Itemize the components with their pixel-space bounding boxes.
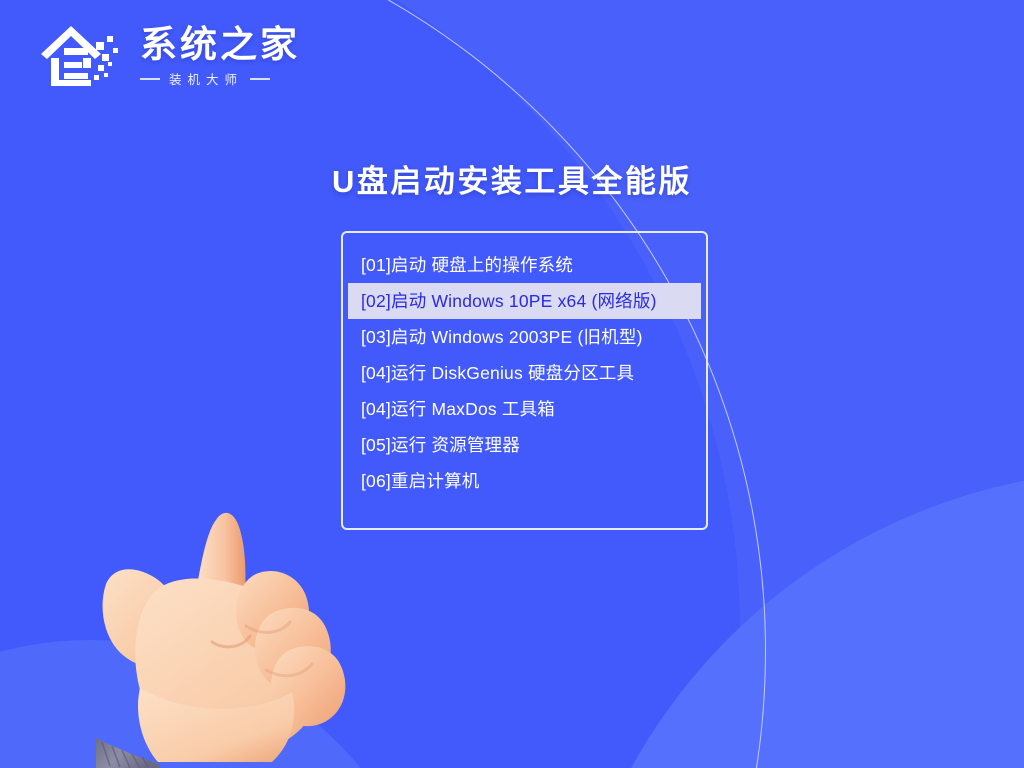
boot-menu-item[interactable]: [02]启动 Windows 10PE x64 (网络版) (348, 283, 701, 319)
boot-menu-item[interactable]: [06]重启计算机 (348, 463, 701, 499)
boot-menu-box: [01]启动 硬盘上的操作系统[02]启动 Windows 10PE x64 (… (341, 231, 708, 530)
brand-tagline-row: 装机大师 (140, 69, 300, 88)
boot-menu-item[interactable]: [05]运行 资源管理器 (348, 427, 701, 463)
boot-menu-item[interactable]: [04]运行 DiskGenius 硬盘分区工具 (348, 355, 701, 391)
tagline-dash-left-icon (140, 78, 160, 80)
boot-menu-item[interactable]: [03]启动 Windows 2003PE (旧机型) (348, 319, 701, 355)
house-pixel-logo-icon (38, 18, 130, 92)
boot-menu-list[interactable]: [01]启动 硬盘上的操作系统[02]启动 Windows 10PE x64 (… (343, 247, 706, 499)
brand-logo: 系统之家 装机大师 (38, 18, 300, 92)
pointing-hand-illustration (96, 500, 396, 768)
boot-menu-screen: 系统之家 装机大师 U盘启动安装工具全能版 [01]启动 硬盘上的操作系统[02… (0, 0, 1024, 768)
page-title: U盘启动安装工具全能版 (0, 156, 1024, 201)
brand-name: 系统之家 (140, 26, 300, 65)
background-arc-band-lower-left (0, 640, 440, 768)
boot-menu-item[interactable]: [04]运行 MaxDos 工具箱 (348, 391, 701, 427)
boot-menu-item[interactable]: [01]启动 硬盘上的操作系统 (348, 247, 701, 283)
tagline-dash-right-icon (250, 78, 270, 80)
brand-tagline: 装机大师 (167, 69, 243, 88)
